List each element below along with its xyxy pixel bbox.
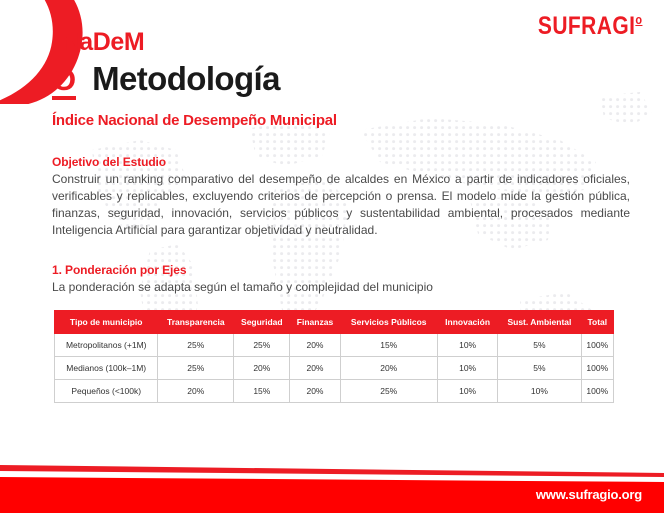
table-cell: 25% xyxy=(340,380,437,403)
table-column-header: Finanzas xyxy=(290,311,340,334)
table-cell: 25% xyxy=(234,334,290,357)
section-body-objective: Construir un ranking comparativo del des… xyxy=(52,171,630,239)
slide-methodology: SUFRAGIo INaDeM O Metodología Índice Nac… xyxy=(0,0,664,513)
title-ordinal-mark: O xyxy=(52,64,76,100)
table-row: Metropolitanos (+1M)25%25%20%15%10%5%100… xyxy=(55,334,614,357)
table-cell: 10% xyxy=(437,380,497,403)
table-column-header: Servicios Públicos xyxy=(340,311,437,334)
logo-ordinal-mark: o xyxy=(635,12,642,27)
table-cell: 20% xyxy=(234,357,290,380)
table-row-label: Metropolitanos (+1M) xyxy=(55,334,158,357)
table-header-row: Tipo de municipioTransparenciaSeguridadF… xyxy=(55,311,614,334)
weights-table: Tipo de municipioTransparenciaSeguridadF… xyxy=(54,310,614,403)
section-heading-weighting: 1. Ponderación por Ejes xyxy=(52,263,186,277)
table-cell: 20% xyxy=(290,334,340,357)
table-column-header: Seguridad xyxy=(234,311,290,334)
table-cell: 15% xyxy=(234,380,290,403)
table-column-header: Total xyxy=(581,311,613,334)
table-cell: 5% xyxy=(498,357,581,380)
table-cell: 100% xyxy=(581,380,613,403)
table-cell: 100% xyxy=(581,334,613,357)
table-cell: 25% xyxy=(158,334,234,357)
table-column-header: Sust. Ambiental xyxy=(498,311,581,334)
table-cell: 25% xyxy=(158,357,234,380)
table-cell: 10% xyxy=(437,357,497,380)
page-subtitle: Índice Nacional de Desempeño Municipal xyxy=(52,112,337,129)
table-cell: 100% xyxy=(581,357,613,380)
table-column-header: Transparencia xyxy=(158,311,234,334)
table-row: Pequeños (<100k)20%15%20%25%10%10%100% xyxy=(55,380,614,403)
table-cell: 20% xyxy=(290,380,340,403)
footer-url[interactable]: www.sufragio.org xyxy=(536,487,642,502)
table-row: Medianos (100k–1M)25%20%20%20%10%5%100% xyxy=(55,357,614,380)
table-row-label: Pequeños (<100k) xyxy=(55,380,158,403)
table-cell: 10% xyxy=(498,380,581,403)
table-body: Metropolitanos (+1M)25%25%20%15%10%5%100… xyxy=(55,334,614,403)
table-cell: 5% xyxy=(498,334,581,357)
table-cell: 20% xyxy=(340,357,437,380)
page-title: O Metodología xyxy=(52,62,280,100)
logo-wordmark: SUFRAGI xyxy=(537,12,634,40)
table-column-header: Tipo de municipio xyxy=(55,311,158,334)
table-cell: 15% xyxy=(340,334,437,357)
table-cell: 20% xyxy=(290,357,340,380)
table-cell: 20% xyxy=(158,380,234,403)
table-cell: 10% xyxy=(437,334,497,357)
section-heading-objective: Objetivo del Estudio xyxy=(52,155,166,169)
section-body-weighting: La ponderación se adapta según el tamaño… xyxy=(52,279,433,296)
brand-inadem: INaDeM xyxy=(55,28,144,57)
title-text: Metodología xyxy=(92,62,280,95)
table-column-header: Innovación xyxy=(437,311,497,334)
sufragio-logo: SUFRAGIo xyxy=(537,12,642,41)
table-row-label: Medianos (100k–1M) xyxy=(55,357,158,380)
